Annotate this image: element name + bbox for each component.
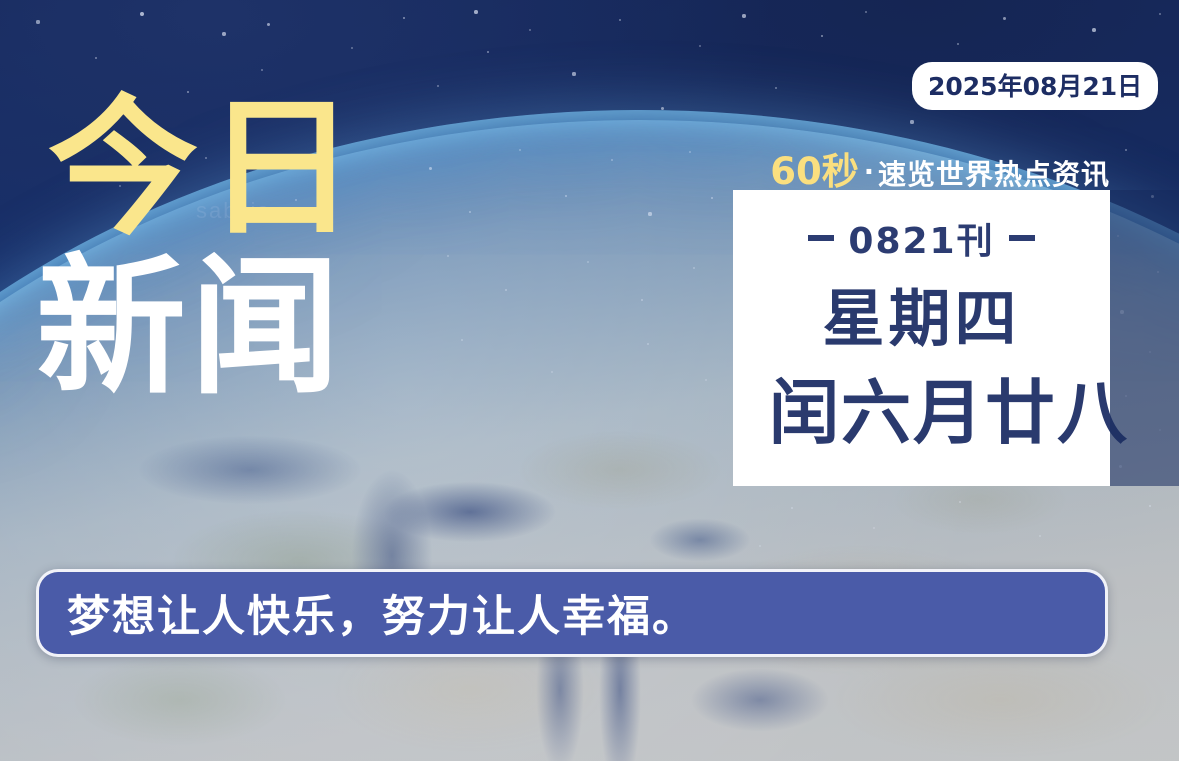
weekday-label: 星期四 bbox=[822, 288, 1020, 350]
info-card: 0821刊 星期四 闰六月廿八 bbox=[733, 190, 1110, 486]
quote-text: 梦想让人快乐，努力让人幸福。 bbox=[67, 582, 697, 644]
tagline-text: 速览世界热点资讯 bbox=[878, 158, 1110, 191]
tagline-separator: · bbox=[864, 157, 874, 188]
issue-dash-left-icon bbox=[808, 235, 834, 241]
date-badge: 2025年08月21日 bbox=[912, 62, 1158, 110]
quote-bar: 梦想让人快乐，努力让人幸福。 bbox=[36, 569, 1108, 657]
issue-dash-right-icon bbox=[1009, 235, 1035, 241]
info-card-content: 0821刊 星期四 闰六月廿八 bbox=[733, 190, 1110, 486]
tagline: 60秒·速览世界热点资讯 bbox=[733, 141, 1110, 195]
tagline-seconds: 60秒 bbox=[770, 150, 859, 193]
news-poster: sabcis 今日 新闻 2025年08月21日 60秒·速览世界热点资讯 08… bbox=[0, 0, 1179, 761]
issue-number: 0821刊 bbox=[848, 212, 994, 264]
lunar-date-label: 闰六月廿八 bbox=[769, 378, 1129, 448]
brand-title-line2: 新闻 bbox=[36, 255, 468, 402]
issue-number-row: 0821刊 bbox=[808, 212, 1034, 264]
brand-wordmark: 今日 新闻 bbox=[48, 96, 468, 402]
brand-title-line1: 今日 bbox=[48, 96, 468, 243]
